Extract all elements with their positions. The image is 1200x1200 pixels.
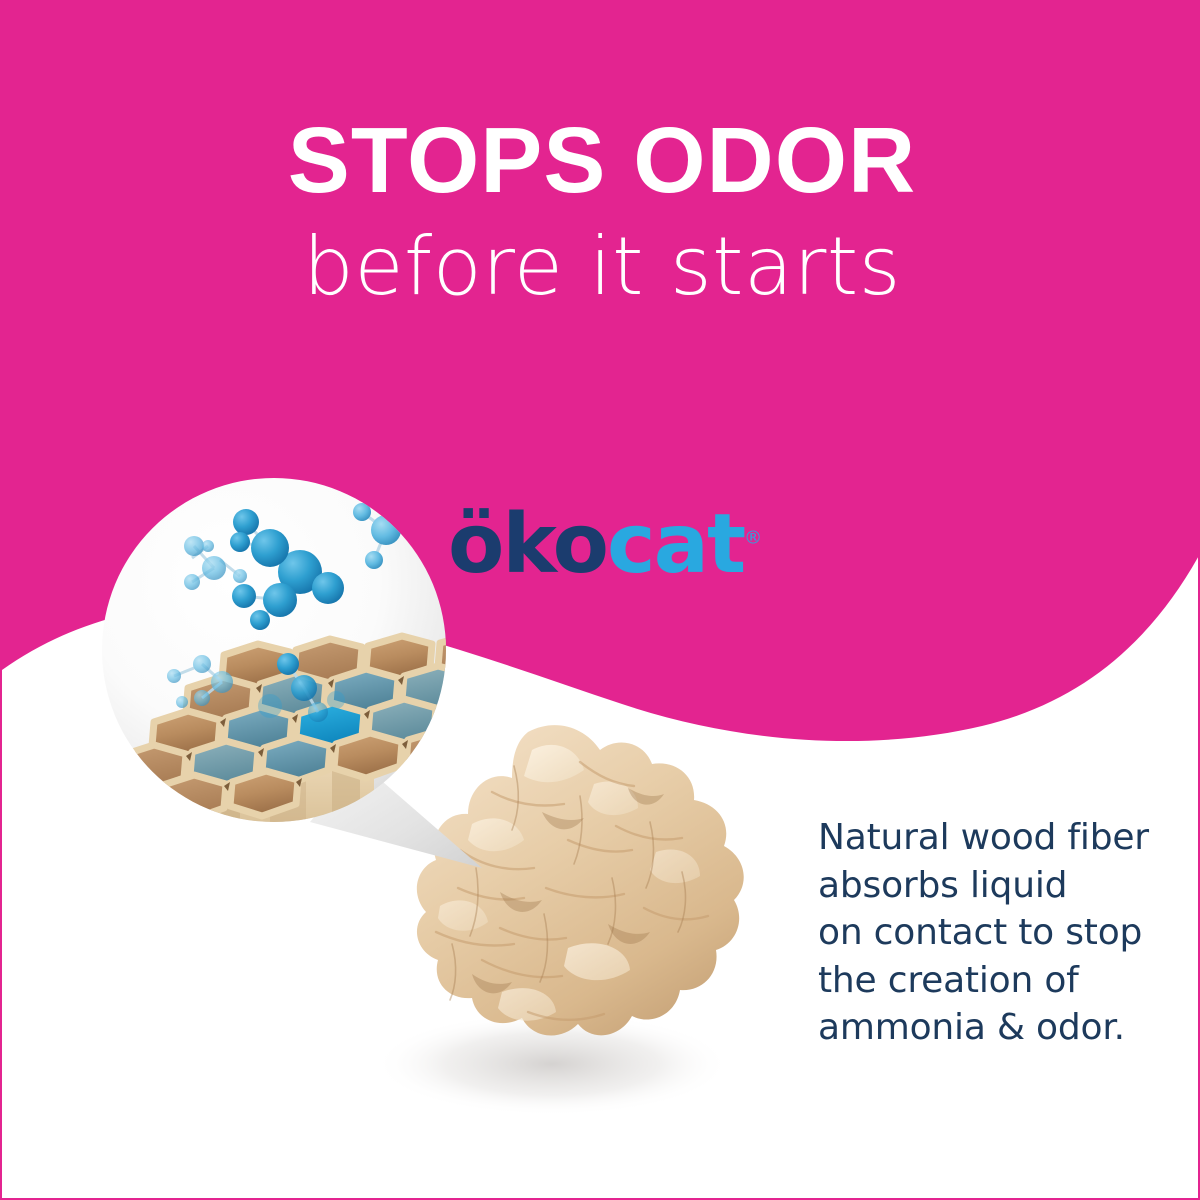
okocat-logo: ökocat® [448, 504, 762, 586]
promo-image-canvas: STOPS ODOR before it starts [0, 0, 1200, 1200]
registered-trademark-icon: ® [744, 528, 762, 549]
magnifier-inset [74, 450, 504, 880]
product-description: Natural wood fiber absorbs liquid on con… [818, 814, 1168, 1052]
description-line-1: Natural wood fiber [818, 814, 1168, 862]
description-line-5: ammonia & odor. [818, 1004, 1168, 1052]
description-line-4: the creation of [818, 957, 1168, 1005]
logo-text-cat: cat [607, 497, 744, 592]
description-line-2: absorbs liquid [818, 862, 1168, 910]
logo-text-oko: öko [448, 497, 607, 592]
description-line-3: on contact to stop [818, 909, 1168, 957]
